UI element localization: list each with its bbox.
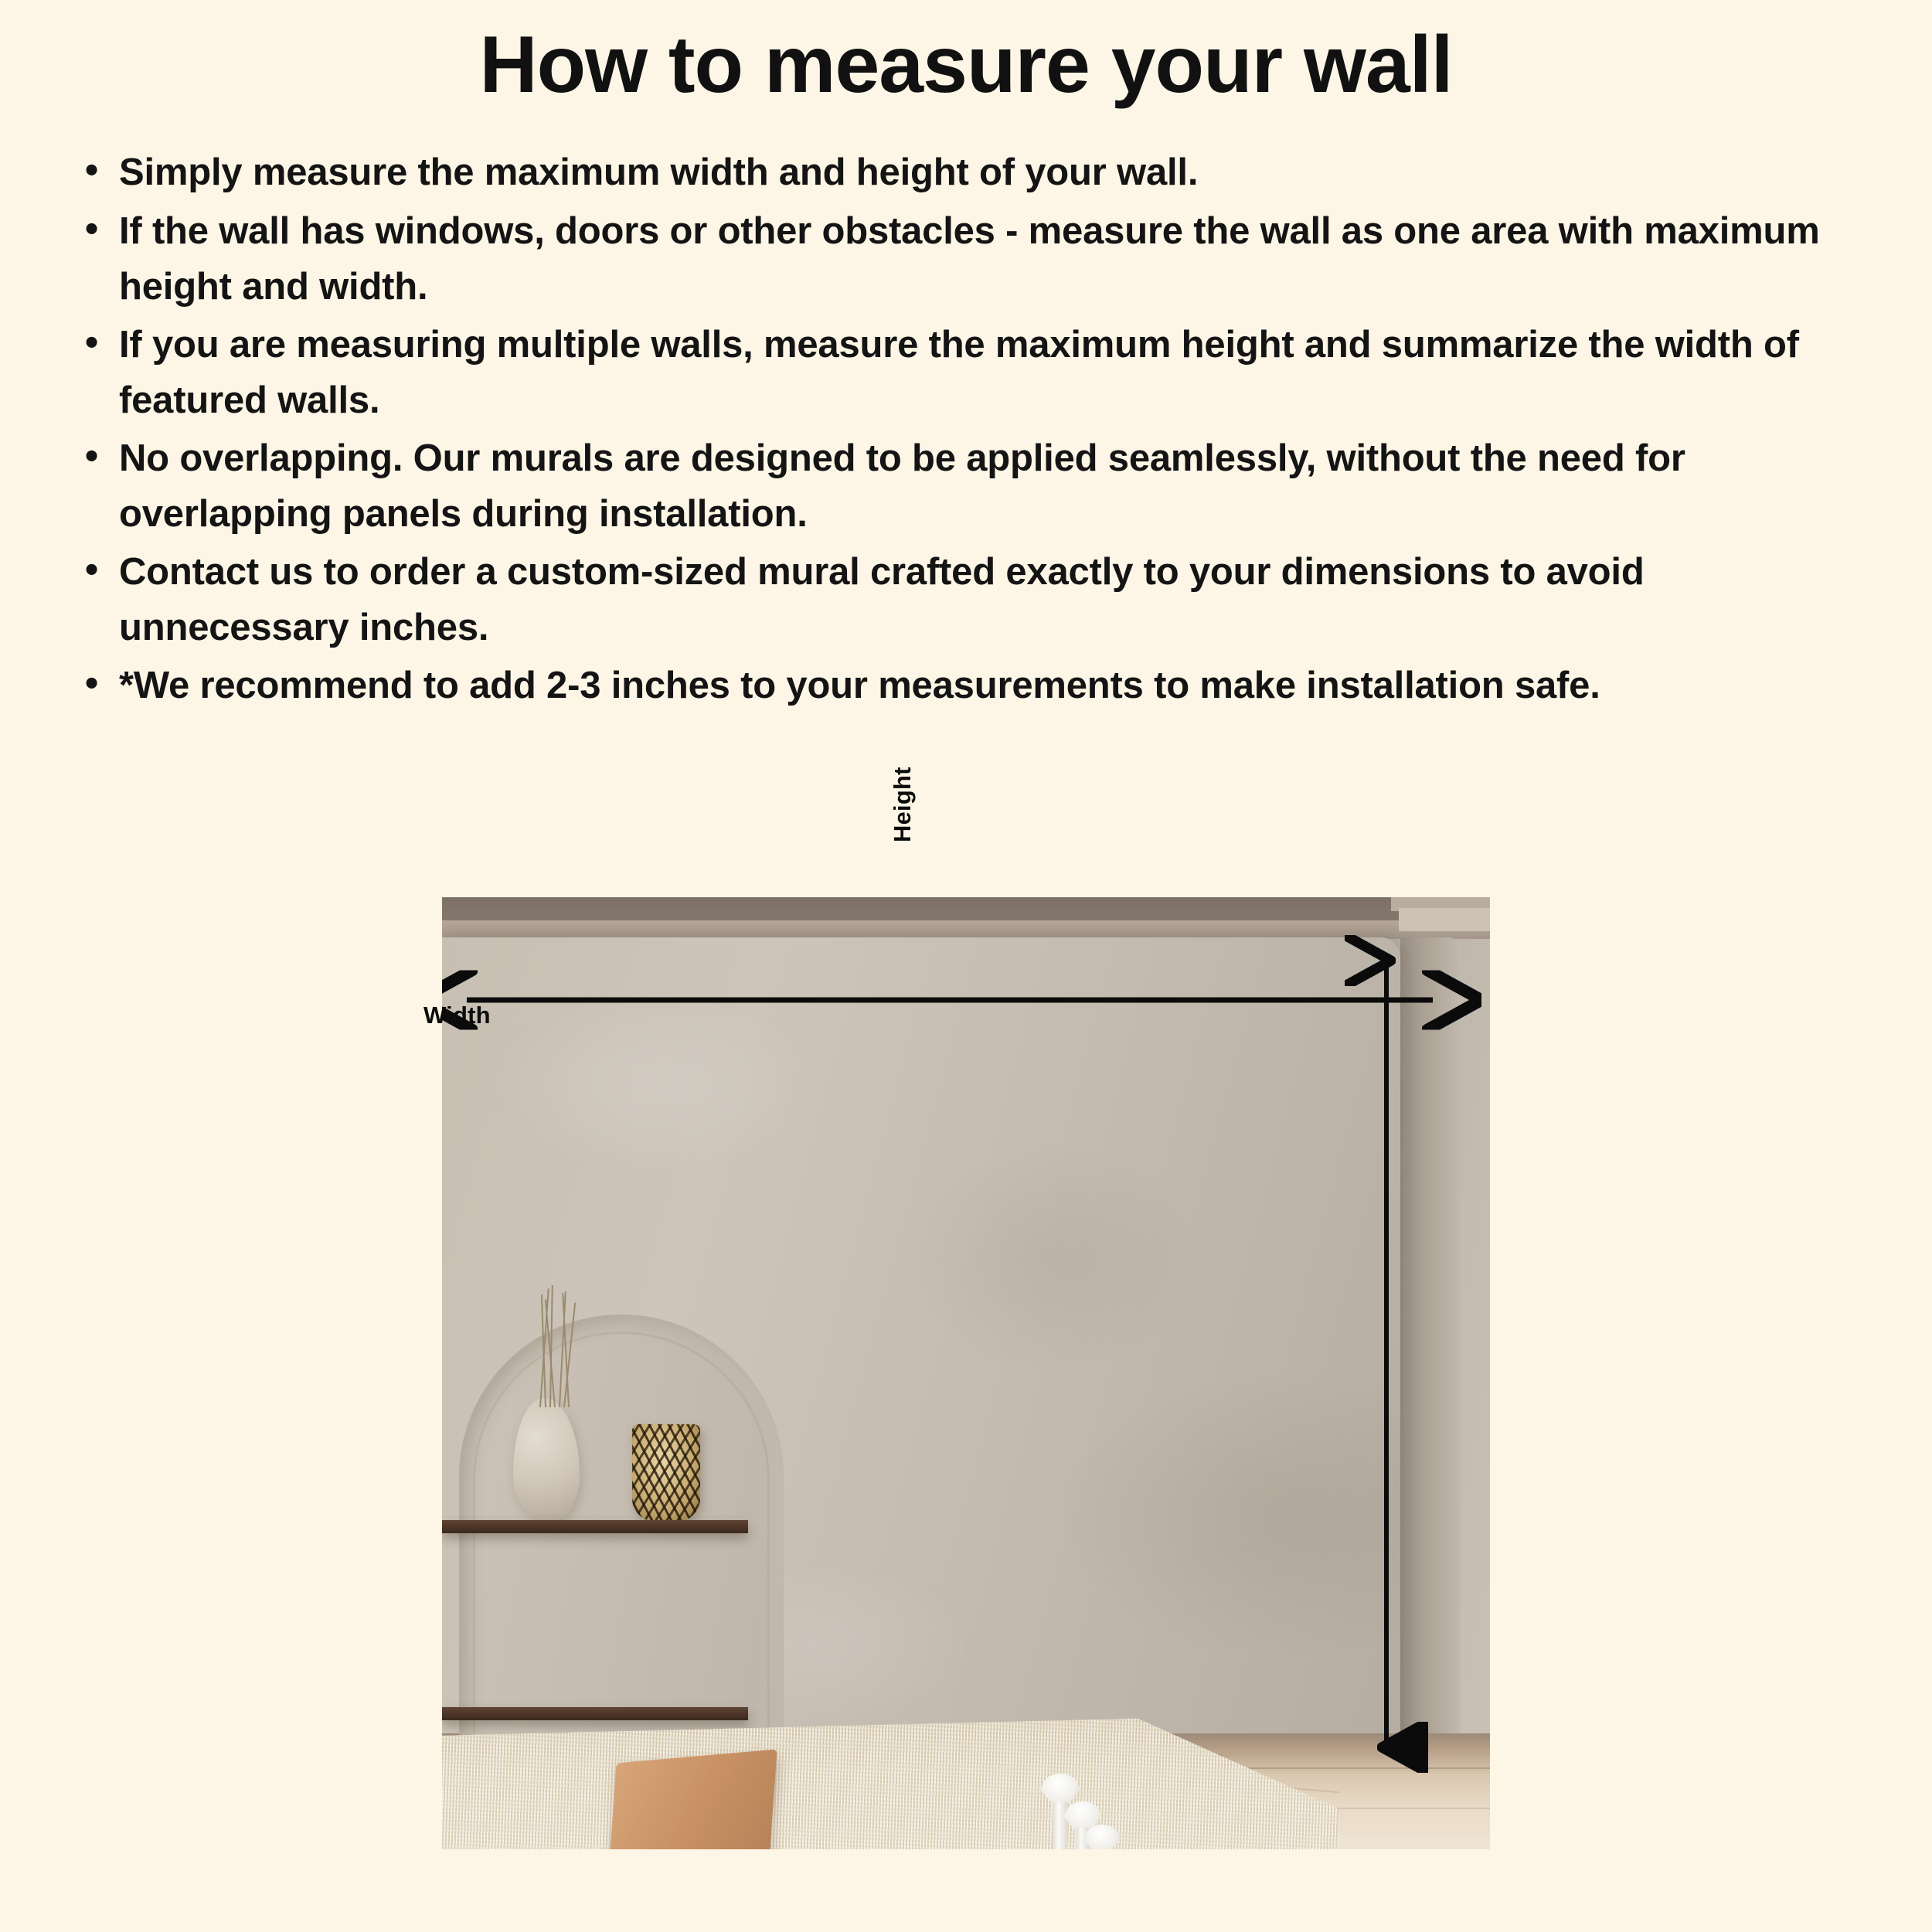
shelf-upper <box>442 1520 748 1533</box>
shelf-middle <box>442 1707 748 1720</box>
room-scene <box>442 897 1490 1849</box>
list-item: No overlapping. Our murals are designed … <box>71 431 1861 542</box>
list-item: *We recommend to add 2-3 inches to your … <box>71 658 1861 714</box>
room-photo <box>442 897 1490 1849</box>
ceiling-lip <box>442 920 1490 939</box>
list-item: If the wall has windows, doors or other … <box>71 204 1861 315</box>
list-item: If you are measuring multiple walls, mea… <box>71 318 1861 428</box>
page-title: How to measure your wall <box>0 0 1932 110</box>
ceramic-vessel-stem-1 <box>1053 1801 1068 1849</box>
height-label: Height <box>889 767 917 842</box>
ceiling-right-edge-lower <box>1399 908 1490 931</box>
width-label: Width <box>423 1002 491 1029</box>
chair-backrest <box>603 1749 777 1849</box>
leather-lounge-chair <box>589 1751 921 1849</box>
list-item: Contact us to order a custom-sized mural… <box>71 545 1861 655</box>
woven-vessel <box>632 1424 700 1522</box>
instructions-list: Simply measure the maximum width and hei… <box>71 145 1861 713</box>
side-table <box>1017 1753 1172 1849</box>
dried-reeds <box>535 1284 581 1407</box>
list-item: Simply measure the maximum width and hei… <box>71 145 1861 201</box>
wall-return-edge <box>1400 937 1461 1733</box>
